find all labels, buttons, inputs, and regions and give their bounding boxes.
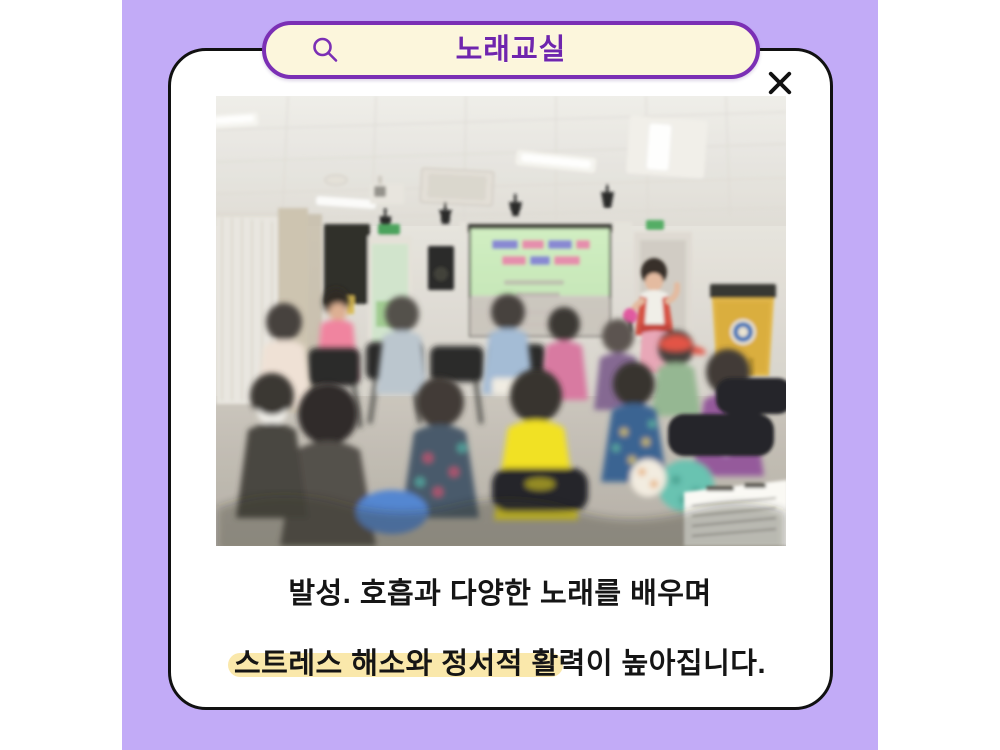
caption-highlight-text: 스트레스 해소와 정서적 활 (234, 648, 559, 680)
screenshot-root: 노래교실 (0, 0, 1000, 750)
close-icon (767, 70, 793, 96)
close-button[interactable] (763, 66, 797, 100)
class-photo (216, 96, 786, 546)
search-bar[interactable]: 노래교실 (262, 21, 760, 79)
caption-line-2: 스트레스 해소와 정서적 활 력이 높아집니다. (200, 640, 800, 682)
caption-block: 발성. 호흡과 다양한 노래를 배우며 스트레스 해소와 정서적 활 력이 높아… (200, 570, 800, 682)
search-icon (310, 35, 340, 65)
caption-line-2-rest: 력이 높아집니다. (559, 648, 766, 680)
caption-line-1: 발성. 호흡과 다양한 노래를 배우며 (200, 570, 800, 612)
caption-highlight: 스트레스 해소와 정서적 활 (234, 640, 559, 682)
class-photo-illustration (216, 96, 786, 546)
